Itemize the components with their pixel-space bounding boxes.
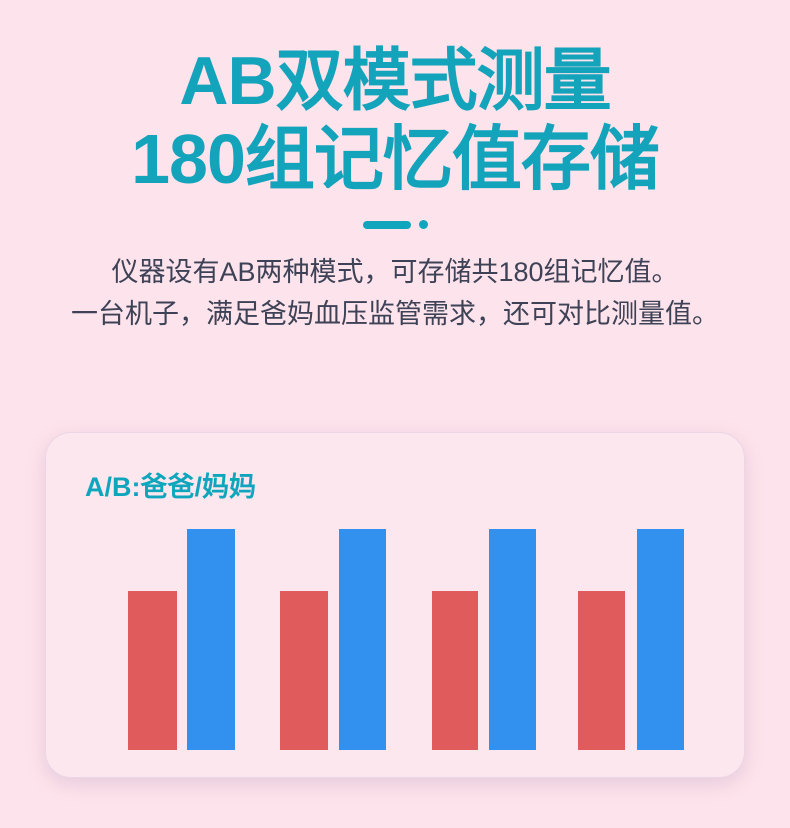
bar-b-1 <box>187 529 235 750</box>
bar-a-2 <box>280 591 328 750</box>
description-line-1: 仪器设有AB两种模式，可存储共180组记忆值。 <box>0 251 790 293</box>
bar-b-3 <box>489 529 536 750</box>
bar-b-2 <box>339 529 386 750</box>
headline-line-2: 180组记忆值存储 <box>0 120 790 198</box>
page-title: AB双模式测量 180组记忆值存储 <box>0 0 790 198</box>
bar-a-4 <box>578 591 625 750</box>
description-text: 仪器设有AB两种模式，可存储共180组记忆值。 一台机子，满足爸妈血压监管需求，… <box>0 251 790 335</box>
bar-a-1 <box>128 591 177 750</box>
bar-a-3 <box>432 591 478 750</box>
divider-bar-icon <box>363 221 411 229</box>
bar-chart-plot <box>45 432 745 778</box>
description-line-2: 一台机子，满足爸妈血压监管需求，还可对比测量值。 <box>0 293 790 335</box>
bar-b-4 <box>637 529 684 750</box>
chart-card: A/B:爸爸/妈妈 <box>45 432 745 778</box>
section-divider <box>355 220 435 229</box>
headline-line-1: AB双模式测量 <box>0 42 790 120</box>
divider-dot-icon <box>419 220 428 229</box>
